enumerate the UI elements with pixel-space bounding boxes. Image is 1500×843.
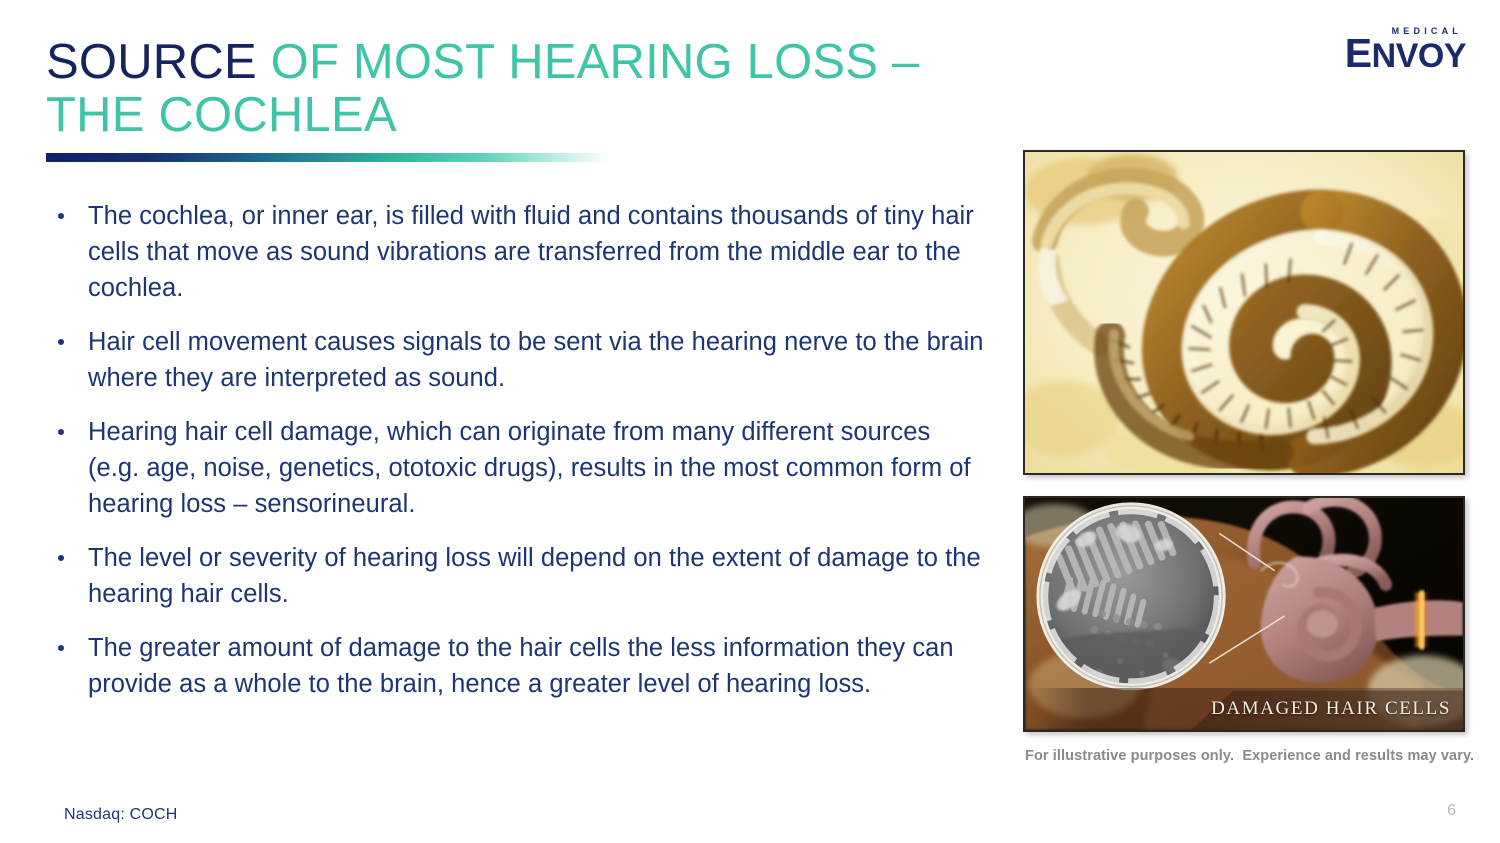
bullet-list: The cochlea, or inner ear, is filled wit… <box>46 198 986 702</box>
list-item: The greater amount of damage to the hair… <box>46 630 986 702</box>
list-item: Hearing hair cell damage, which can orig… <box>46 414 986 522</box>
title-accent-bar <box>46 153 608 162</box>
bullet-text: The cochlea, or inner ear, is filled wit… <box>88 202 974 302</box>
slide: SOURCE OF MOST HEARING LOSS – THE COCHLE… <box>0 0 1500 843</box>
list-item: The level or severity of hearing loss wi… <box>46 540 986 612</box>
nasdaq-ticker: Nasdaq: COCH <box>64 806 178 824</box>
cochlea-spiral-illustration <box>1025 152 1463 473</box>
bullet-dot-icon <box>58 645 64 651</box>
figure-caption: DAMAGED HAIR CELLS <box>1211 698 1451 720</box>
envoy-medical-logo: MEDICAL ENVOY <box>1298 26 1466 82</box>
bullet-text: The greater amount of damage to the hair… <box>88 634 954 698</box>
list-item: Hair cell movement causes signals to be … <box>46 324 986 396</box>
bullet-dot-icon <box>58 213 64 219</box>
logo-envoy-initial: E <box>1345 30 1372 76</box>
logo-envoy-text: ENVOY <box>1298 36 1466 73</box>
slide-title: SOURCE OF MOST HEARING LOSS – THE COCHLE… <box>46 36 1006 142</box>
bullet-dot-icon <box>58 429 64 435</box>
figure-caption-band: DAMAGED HAIR CELLS <box>1025 688 1463 730</box>
list-item: The cochlea, or inner ear, is filled wit… <box>46 198 986 306</box>
cochlea-histology-image <box>1023 150 1465 475</box>
bullet-dot-icon <box>58 555 64 561</box>
bullet-text: Hearing hair cell damage, which can orig… <box>88 418 971 518</box>
slide-title-lead: SOURCE <box>46 35 257 89</box>
bullet-text: The level or severity of hearing loss wi… <box>88 544 981 608</box>
illustrative-purposes-disclaimer: For illustrative purposes only. Experien… <box>1025 748 1495 764</box>
page-title: SOURCE OF MOST HEARING LOSS – THE COCHLE… <box>46 36 1006 142</box>
logo-envoy-rest: NVOY <box>1372 37 1466 75</box>
damaged-hair-cells-image: DAMAGED HAIR CELLS <box>1023 496 1465 732</box>
bullet-text: Hair cell movement causes signals to be … <box>88 328 984 392</box>
page-number: 6 <box>1447 802 1456 820</box>
bullet-dot-icon <box>58 339 64 345</box>
